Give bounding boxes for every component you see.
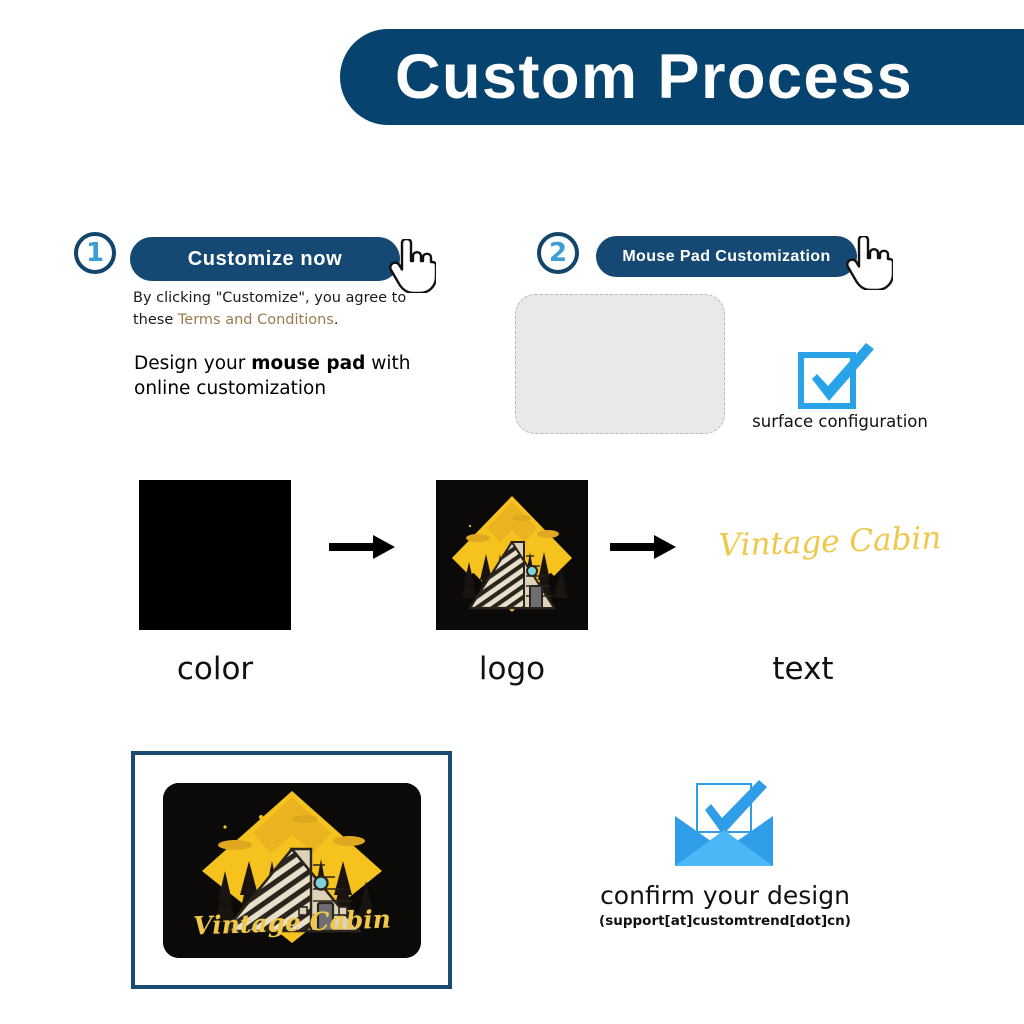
support-email-label: (support[at]customtrend[dot]cn) bbox=[565, 913, 885, 929]
terms-and-conditions-link[interactable]: Terms and Conditions bbox=[178, 312, 334, 328]
page-title: Custom Process bbox=[395, 46, 913, 109]
step-badge-1: 1 bbox=[74, 232, 116, 274]
step-number-2: 2 bbox=[549, 240, 567, 266]
right-arrow-icon bbox=[329, 534, 395, 560]
surface-configuration-label: surface configuration bbox=[745, 412, 935, 431]
final-mouse-pad-preview[interactable]: Vintage Cabin bbox=[163, 783, 421, 958]
hand-pointer-icon bbox=[388, 239, 436, 293]
right-arrow-icon bbox=[610, 534, 676, 560]
checkbox-check-icon bbox=[798, 341, 878, 409]
final-design-frame: Vintage Cabin bbox=[131, 751, 452, 989]
headline-bold: mouse pad bbox=[251, 353, 365, 374]
envelope-check-icon bbox=[673, 780, 775, 868]
hand-pointer-icon bbox=[845, 236, 893, 290]
mouse-pad-customization-label: Mouse Pad Customization bbox=[622, 248, 830, 266]
custom-text-preview[interactable]: Vintage Cabin bbox=[704, 520, 955, 565]
mouse-pad-customization-button[interactable]: Mouse Pad Customization bbox=[596, 236, 857, 277]
logo-label: logo bbox=[436, 651, 588, 687]
header-banner: Custom Process bbox=[340, 29, 1024, 125]
blank-mouse-pad-outline[interactable] bbox=[515, 294, 725, 434]
headline-part1: Design your bbox=[134, 353, 251, 374]
cabin-logo-artwork bbox=[436, 480, 588, 630]
customize-now-button[interactable]: Customize now bbox=[130, 237, 400, 281]
step-number-1: 1 bbox=[86, 240, 104, 266]
confirm-design-label: confirm your design bbox=[565, 881, 885, 910]
color-swatch[interactable] bbox=[139, 480, 291, 630]
text-label: text bbox=[705, 651, 901, 687]
customize-now-label: Customize now bbox=[188, 248, 342, 271]
logo-preview-tile[interactable] bbox=[436, 480, 588, 630]
step-badge-2: 2 bbox=[537, 232, 579, 274]
custom-process-infographic: Custom Process 1 Customize now By clicki… bbox=[0, 0, 1024, 1024]
terms-disclaimer: By clicking "Customize", you agree to th… bbox=[133, 287, 423, 332]
color-label: color bbox=[139, 651, 291, 687]
step1-headline: Design your mouse pad with online custom… bbox=[134, 352, 434, 402]
disclaimer-suffix: . bbox=[334, 312, 339, 328]
